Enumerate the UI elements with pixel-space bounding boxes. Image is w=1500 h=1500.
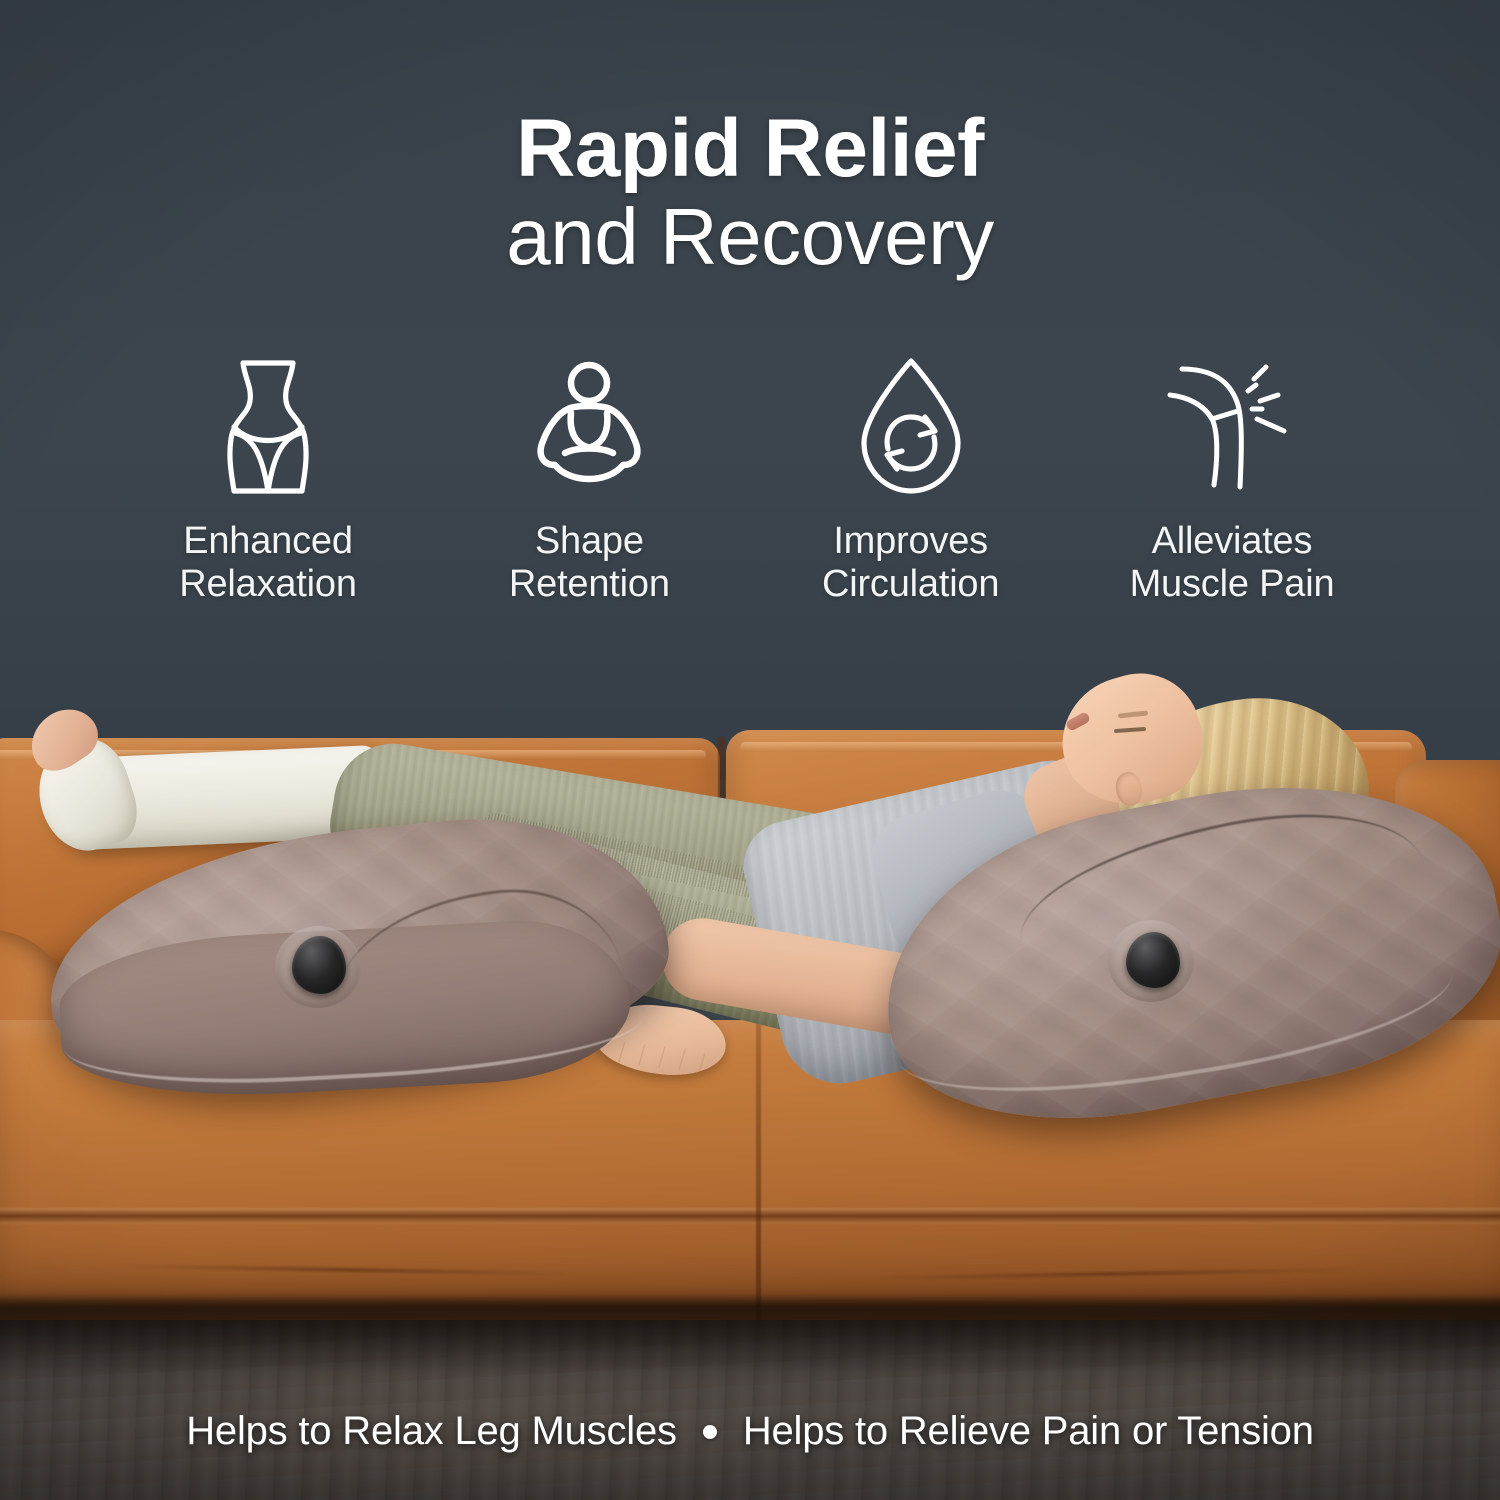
female-torso-icon (210, 352, 326, 502)
feature-label-enhanced-relaxation: Enhanced Relaxation (179, 520, 357, 605)
feature-item-enhanced-relaxation: Enhanced Relaxation (118, 352, 418, 605)
feature-item-improves-circulation: Improves Circulation (761, 352, 1061, 605)
inflation-valve-knob-right[interactable] (1126, 932, 1180, 988)
feature-item-shape-retention: Shape Retention (439, 352, 739, 605)
bullet-dot-icon (703, 1425, 717, 1439)
feature-label-improves-circulation: Improves Circulation (822, 520, 999, 605)
bottom-caption: Helps to Relax Leg Muscles Helps to Reli… (0, 1409, 1500, 1454)
headline-line-1: Rapid Relief (0, 108, 1500, 190)
sofa-ground-shadow (0, 1300, 1500, 1370)
bent-knee-pain-icon (1162, 352, 1302, 502)
caption-right-text: Helps to Relieve Pain or Tension (743, 1409, 1314, 1454)
feature-benefits-row: Enhanced Relaxation Shape Retention (118, 352, 1382, 605)
headline-line-2: and Recovery (0, 194, 1500, 280)
inflation-valve-knob-left[interactable] (292, 936, 346, 994)
product-marketing-image: Rapid Relief and Recovery Enhanced Relax… (0, 0, 1500, 1500)
sofa-seat-seam-horizontal (0, 1208, 1500, 1224)
sofa-seat-seam-vertical (756, 1020, 761, 1320)
headline: Rapid Relief and Recovery (0, 108, 1500, 280)
caption-left-text: Helps to Relax Leg Muscles (186, 1409, 677, 1454)
feature-label-alleviates-muscle-pain: Alleviates Muscle Pain (1130, 520, 1335, 605)
meditation-lotus-pose-icon (519, 352, 659, 502)
water-droplet-recycle-icon (850, 352, 972, 502)
feature-label-shape-retention: Shape Retention (509, 520, 670, 605)
feature-item-alleviates-muscle-pain: Alleviates Muscle Pain (1082, 352, 1382, 605)
